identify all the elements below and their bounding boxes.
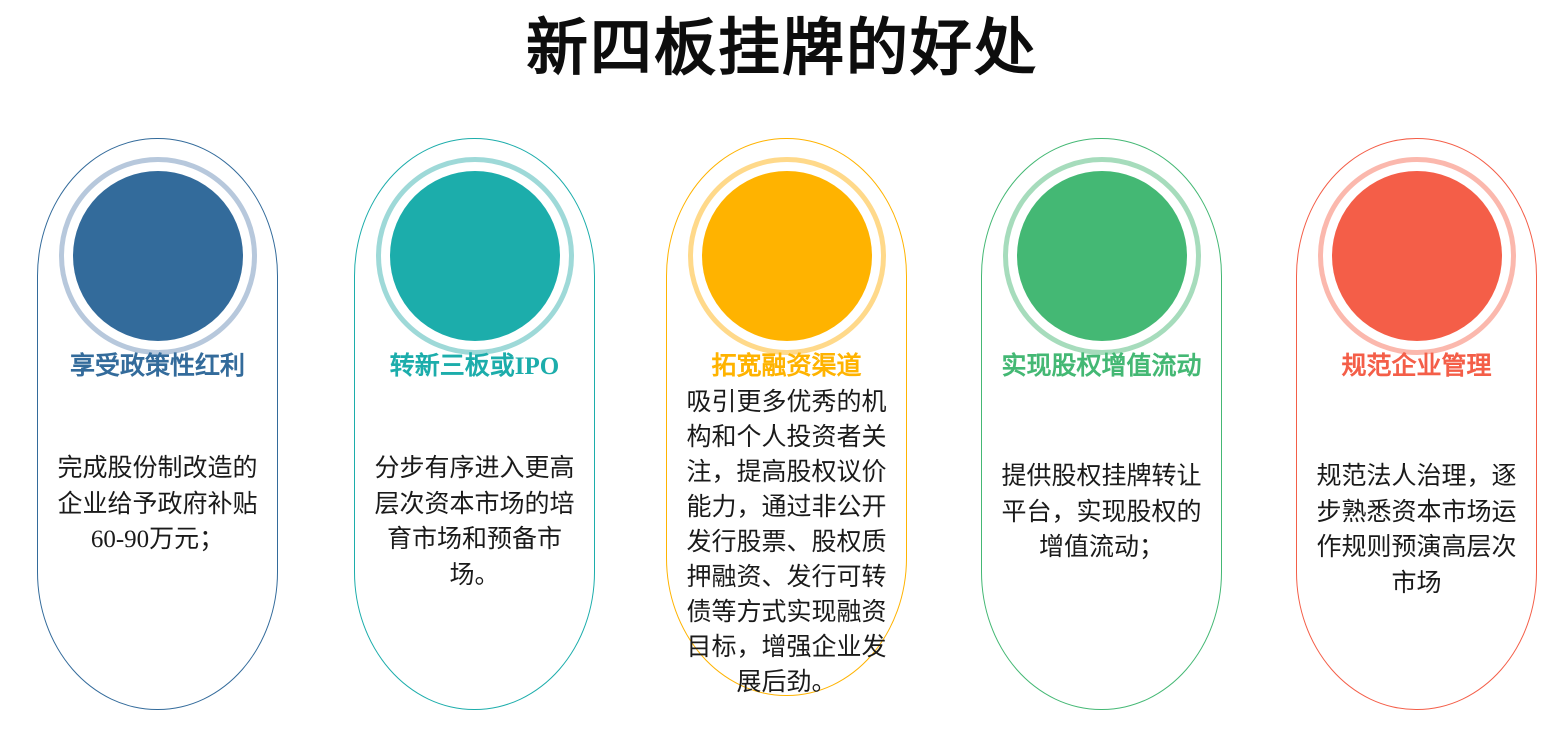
card-title: 享受政策性红利 [38,351,277,382]
card-title: 规范企业管理 [1297,351,1536,382]
card-title: 实现股权增值流动 [982,351,1221,382]
benefit-card-financing-channels[interactable]: 拓宽融资渠道 吸引更多优秀的机构和个人投资者关注，提高股权议价能力，通过非公开发… [666,138,907,696]
benefit-card-neeq-ipo[interactable]: 转新三板或IPO 分步有序进入更高层次资本市场的培育市场和预备市场。 [354,138,595,710]
card-body: 分步有序进入更高层次资本市场的培育市场和预备市场。 [369,451,580,593]
benefit-cards-row: 享受政策性红利 完成股份制改造的企业给予政府补贴60-90万元； 转新三板或IP… [0,138,1564,718]
card-body: 吸引更多优秀的机构和个人投资者关注，提高股权议价能力，通过非公开发行股票、股权质… [681,385,892,700]
card-title: 转新三板或IPO [355,351,594,382]
circle-disc-icon [1332,171,1502,341]
circle-disc-icon [390,171,560,341]
circle-disc-icon [1017,171,1187,341]
card-body: 提供股权挂牌转让平台，实现股权的增值流动； [996,459,1207,566]
circle-disc-icon [702,171,872,341]
card-title: 拓宽融资渠道 [667,351,906,382]
page-title: 新四板挂牌的好处 [0,14,1564,85]
card-body: 完成股份制改造的企业给予政府补贴60-90万元； [52,451,263,558]
benefit-card-corporate-governance[interactable]: 规范企业管理 规范法人治理，逐步熟悉资本市场运作规则预演高层次市场 [1296,138,1537,710]
circle-disc-icon [73,171,243,341]
card-body: 规范法人治理，逐步熟悉资本市场运作规则预演高层次市场 [1311,459,1522,601]
benefit-card-policy-dividend[interactable]: 享受政策性红利 完成股份制改造的企业给予政府补贴60-90万元； [37,138,278,710]
benefit-card-equity-appreciation[interactable]: 实现股权增值流动 提供股权挂牌转让平台，实现股权的增值流动； [981,138,1222,710]
